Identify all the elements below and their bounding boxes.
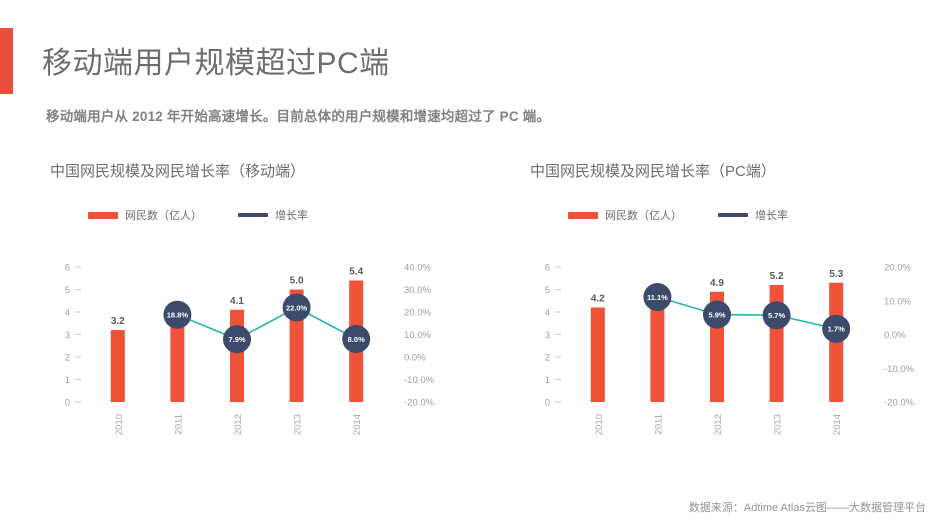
y-axis-tick-left: 2 [65,353,70,364]
bar [650,299,664,403]
legend-item-line: 增长率 [718,207,788,223]
y-axis-tick-right: 0.0% [884,330,906,341]
y-axis-tick-right: 10.0% [404,330,431,341]
bar [230,310,244,402]
legend-item-line: 增长率 [238,207,308,223]
legend-line-swatch-icon [238,213,268,217]
x-axis-tick-label: 2013 [293,414,304,435]
growth-rate-bubble-label: 1.7% [828,325,845,334]
legend-bar-swatch-icon [568,212,598,219]
chart-legend-mobile: 网民数（亿人） 增长率 [38,207,458,223]
growth-rate-bubble-label: 11.1% [647,293,668,302]
growth-rate-bubble-label: 7.9% [228,335,245,344]
legend-line-label: 增长率 [755,207,788,223]
x-axis-tick-label: 2011 [173,414,184,434]
growth-rate-bubble-label: 8.0% [348,335,365,344]
bar [111,330,125,402]
chart-svg-mobile: 654321040.0%30.0%20.0%10.0%0.0%-10.0%-20… [38,245,458,460]
y-axis-tick-right: -20.0% [884,398,915,409]
title-accent-bar [0,28,13,94]
x-axis-tick-label: 2011 [653,414,664,434]
y-axis-tick-left: 6 [65,263,70,274]
data-source-note: 数据来源：Adtime Atlas云图——大数据管理平台 [689,499,926,515]
y-axis-tick-left: 6 [545,263,550,274]
growth-rate-line [657,297,836,329]
legend-line-swatch-icon [718,213,748,217]
slide-root: 移动端用户规模超过PC端 移动端用户从 2012 年开始高速增长。目前总体的用户… [0,0,948,531]
y-axis-tick-left: 0 [65,398,70,409]
x-axis-tick-label: 2014 [832,414,843,435]
y-axis-tick-left: 4 [65,308,70,319]
legend-bar-swatch-icon [88,212,118,219]
chart-svg-pc: 654321020.0%10.0%0.0%-10.0%-20.0%4.24.64… [518,245,938,460]
y-axis-tick-right: -20.0% [404,398,435,409]
chart-block-pc: 中国网民规模及网民增长率（PC端） 网民数（亿人） 增长率 654321020.… [518,160,938,490]
chart-block-mobile: 中国网民规模及网民增长率（移动端） 网民数（亿人） 增长率 654321040.… [38,160,458,490]
bar-value-label: 5.4 [349,267,363,278]
bar-value-label: 4.9 [710,278,724,289]
growth-rate-bubble-label: 5.9% [708,310,725,319]
y-axis-tick-left: 4 [545,308,550,319]
y-axis-tick-left: 3 [545,330,550,341]
chart-legend-pc: 网民数（亿人） 增长率 [518,207,938,223]
chart-title-pc: 中国网民规模及网民增长率（PC端） [518,160,938,181]
y-axis-tick-right: 20.0% [404,308,431,319]
growth-rate-line [177,308,356,340]
page-subtitle: 移动端用户从 2012 年开始高速增长。目前总体的用户规模和增速均超过了 PC … [46,105,550,125]
y-axis-tick-left: 3 [65,330,70,341]
growth-rate-bubble-label: 22.0% [286,303,308,312]
legend-bar-label: 网民数（亿人） [125,207,202,223]
plot-area-mobile: 654321040.0%30.0%20.0%10.0%0.0%-10.0%-20… [38,245,458,460]
y-axis-tick-right: 20.0% [884,263,911,274]
y-axis-tick-right: 40.0% [404,263,431,274]
x-axis-tick-label: 2010 [594,414,605,435]
y-axis-tick-left: 1 [65,375,70,386]
x-axis-tick-label: 2013 [773,414,784,435]
x-axis-tick-label: 2010 [114,414,125,435]
growth-rate-bubble-label: 5.7% [768,311,785,320]
y-axis-tick-right: -10.0% [404,375,435,386]
bar-value-label: 4.2 [591,294,605,305]
y-axis-tick-left: 2 [545,353,550,364]
y-axis-tick-left: 1 [545,375,550,386]
bar-value-label: 4.1 [230,296,244,307]
y-axis-tick-right: 10.0% [884,296,911,307]
bar-value-label: 5.0 [290,276,304,287]
legend-item-bar: 网民数（亿人） [88,207,202,223]
bar-value-label: 5.3 [829,269,843,280]
y-axis-tick-right: -10.0% [884,364,915,375]
bar-value-label: 3.2 [111,316,125,327]
y-axis-tick-right: 0.0% [404,353,426,364]
y-axis-tick-right: 30.0% [404,285,431,296]
bar [170,321,184,402]
x-axis-tick-label: 2012 [713,414,724,435]
bar-value-label: 5.2 [770,271,784,282]
growth-rate-bubble-label: 18.8% [167,311,189,320]
legend-line-label: 增长率 [275,207,308,223]
page-title: 移动端用户规模超过PC端 [42,38,390,82]
chart-title-mobile: 中国网民规模及网民增长率（移动端） [38,160,458,181]
x-axis-tick-label: 2014 [352,414,363,435]
legend-item-bar: 网民数（亿人） [568,207,682,223]
bar [591,308,605,403]
legend-bar-label: 网民数（亿人） [605,207,682,223]
y-axis-tick-left: 5 [545,285,550,296]
plot-area-pc: 654321020.0%10.0%0.0%-10.0%-20.0%4.24.64… [518,245,938,460]
x-axis-tick-label: 2012 [233,414,244,435]
y-axis-tick-left: 5 [65,285,70,296]
y-axis-tick-left: 0 [545,398,550,409]
